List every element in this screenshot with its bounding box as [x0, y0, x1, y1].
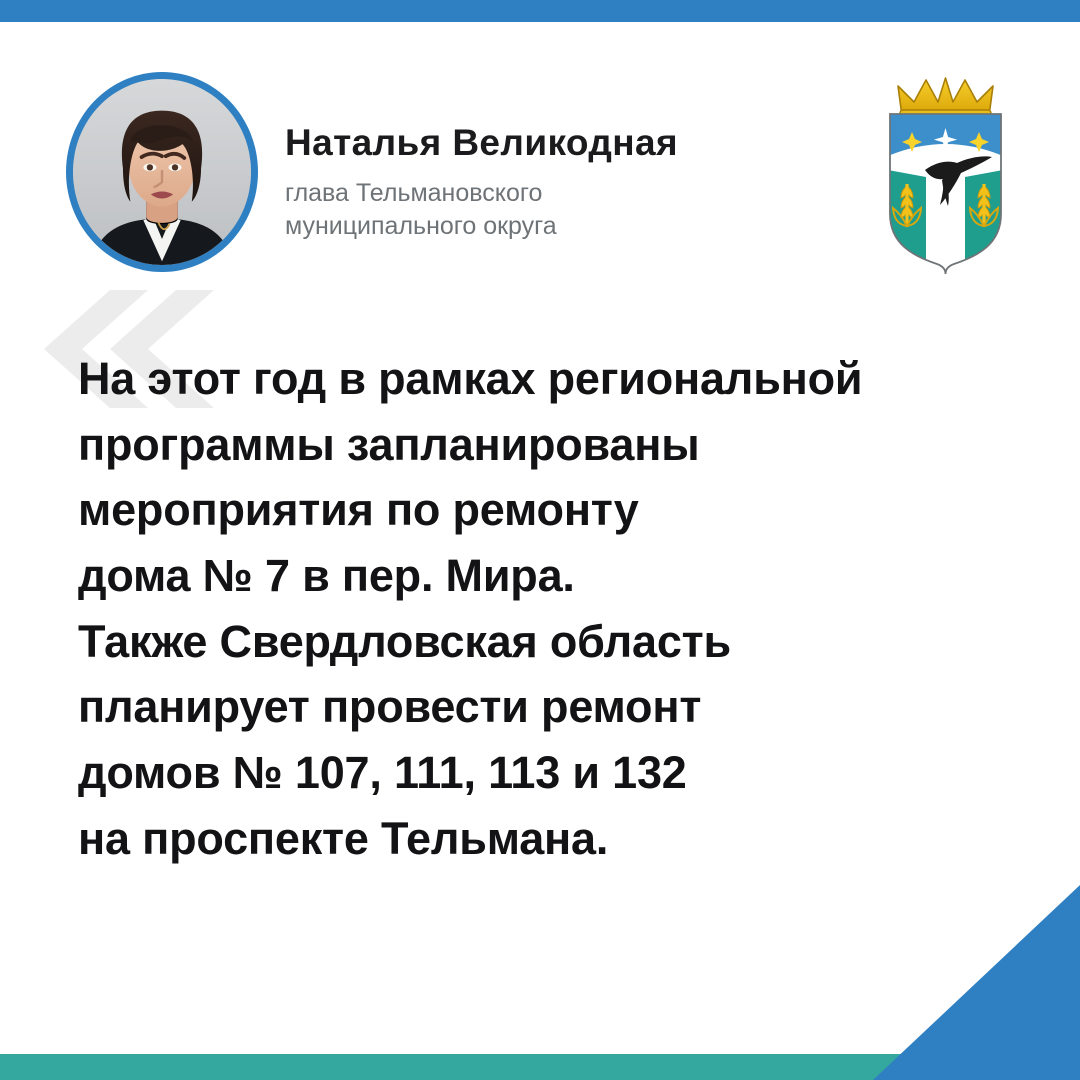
header: Наталья Великодная глава Тельмановского …: [0, 22, 1080, 284]
identity-block: Наталья Великодная глава Тельмановского …: [285, 124, 845, 243]
shield: [888, 114, 1003, 269]
coat-of-arms-graphic: [878, 74, 1013, 279]
page-title: Наталья Великодная: [285, 124, 845, 163]
quote-line: дома № 7 в пер. Мира.: [78, 543, 1020, 609]
quote-card: Наталья Великодная глава Тельмановского …: [0, 0, 1080, 1080]
quote-line: программы запланированы: [78, 412, 1020, 478]
quote-text: На этот год в рамках региональной програ…: [0, 284, 1080, 872]
coat-of-arms-icon: [878, 74, 1013, 279]
quote-line: мероприятия по ремонту: [78, 477, 1020, 543]
quote-line: домов № 107, 111, 113 и 132: [78, 740, 1020, 806]
avatar: [66, 72, 258, 272]
quote-line: планирует провести ремонт: [78, 674, 1020, 740]
quote-line: на проспекте Тельмана.: [78, 806, 1020, 872]
crown-icon: [898, 78, 993, 119]
quote-line: Также Свердловская область: [78, 609, 1020, 675]
avatar-photo: [73, 79, 251, 265]
person-role: глава Тельмановского муниципального окру…: [285, 177, 845, 243]
quote-line: На этот год в рамках региональной: [78, 346, 1020, 412]
top-accent-bar: [0, 0, 1080, 22]
person-role-line-2: муниципального округа: [285, 212, 557, 240]
quote-block: На этот год в рамках региональной програ…: [0, 284, 1080, 924]
person-role-line-1: глава Тельмановского: [285, 179, 542, 207]
